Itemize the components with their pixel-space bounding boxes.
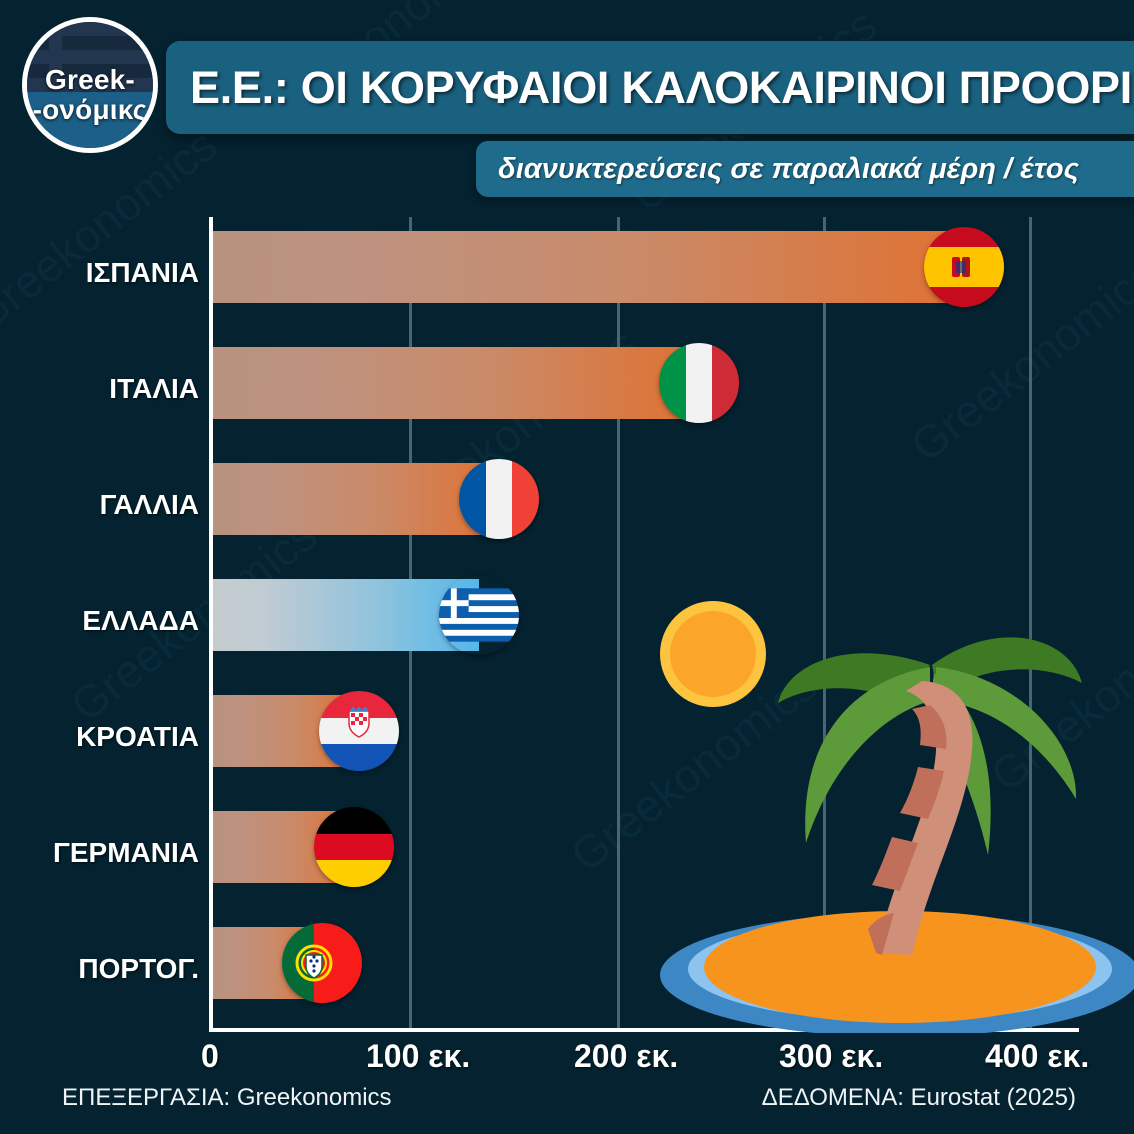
greece-flag <box>439 575 519 655</box>
sidebar-item-ispania: ΙΣΠΑΝΙΑ <box>4 257 199 289</box>
croatia-flag <box>319 691 399 771</box>
category-label: ΓΕΡΜΑΝΙΑ <box>53 837 199 868</box>
table-row[interactable] <box>213 347 703 419</box>
category-label: ΠΟΡΤΟΓ. <box>78 953 199 984</box>
category-label: ΕΛΛΑΔΑ <box>82 605 199 636</box>
sidebar-item-portog: ΠΟΡΤΟΓ. <box>4 953 199 985</box>
gridline-400 <box>1029 217 1032 1028</box>
bar-chart: ΙΣΠΑΝΙΑ ΙΤΑΛΙΑ <box>209 217 1079 1032</box>
sidebar-item-gallia: ΓΑΛΛΙΑ <box>4 489 199 521</box>
logo-line-2: -ονόμικς <box>27 94 153 126</box>
gridline-300 <box>823 217 826 1028</box>
sidebar-item-kroatia: ΚΡΟΑΤΙΑ <box>4 721 199 753</box>
table-row[interactable] <box>213 927 326 999</box>
gridline-200 <box>617 217 620 1028</box>
bar-ispania[interactable] <box>213 231 964 303</box>
france-flag <box>459 459 539 539</box>
category-label: ΙΤΑΛΙΑ <box>109 373 199 404</box>
x-tick-100: 100 εκ. <box>366 1038 470 1075</box>
sidebar-item-italia: ΙΤΑΛΙΑ <box>4 373 199 405</box>
footer-credit-processing: ΕΠΕΞΕΡΓΑΣΙΑ: Greekonomics <box>62 1084 392 1112</box>
table-row[interactable] <box>213 231 973 303</box>
germany-flag <box>314 807 394 887</box>
greek-flag-circle-logo[interactable]: Greek- -ονόμικς <box>22 17 158 153</box>
x-tick-400: 400 εκ. <box>985 1038 1089 1075</box>
sidebar-item-ellada: ΕΛΛΑΔΑ <box>4 605 199 637</box>
table-row[interactable] <box>213 695 363 767</box>
category-label: ΓΑΛΛΙΑ <box>100 489 199 520</box>
page-title: Ε.Ε.: ΟΙ ΚΟΡΥΦΑΙΟΙ ΚΑΛΟΚΑΙΡΙΝΟΙ ΠΡΟΟΡΙΣΜ… <box>166 62 1134 114</box>
category-label: ΙΣΠΑΝΙΑ <box>86 257 199 288</box>
spain-flag <box>924 227 1004 307</box>
category-label: ΚΡΟΑΤΙΑ <box>76 721 199 752</box>
table-row[interactable] <box>213 579 483 651</box>
page-subtitle: διανυκτερεύσεις σε παραλιακά μέρη / έτος <box>476 153 1079 186</box>
subtitle-bar: διανυκτερεύσεις σε παραλιακά μέρη / έτος <box>476 141 1134 197</box>
x-tick-0: 0 <box>201 1038 219 1075</box>
bar-italia[interactable] <box>213 347 699 419</box>
bar-gallia[interactable] <box>213 463 499 535</box>
x-tick-200: 200 εκ. <box>574 1038 678 1075</box>
sidebar-item-germania: ΓΕΡΜΑΝΙΑ <box>4 837 199 869</box>
watermark-text: Greekonomics <box>0 117 227 342</box>
logo-line-1: Greek- <box>27 64 153 96</box>
title-bar: Ε.Ε.: ΟΙ ΚΟΡΥΦΑΙΟΙ ΚΑΛΟΚΑΙΡΙΝΟΙ ΠΡΟΟΡΙΣΜ… <box>166 41 1134 134</box>
table-row[interactable] <box>213 463 503 535</box>
portugal-flag <box>282 923 362 1003</box>
x-axis <box>209 1028 1079 1032</box>
italy-flag <box>659 343 739 423</box>
infographic-root: Greekonomics Greekonomics Greekonomics G… <box>0 0 1134 1134</box>
x-tick-300: 300 εκ. <box>779 1038 883 1075</box>
footer-credit-data: ΔΕΔΟΜΕΝΑ: Eurostat (2025) <box>762 1084 1076 1112</box>
table-row[interactable] <box>213 811 358 883</box>
